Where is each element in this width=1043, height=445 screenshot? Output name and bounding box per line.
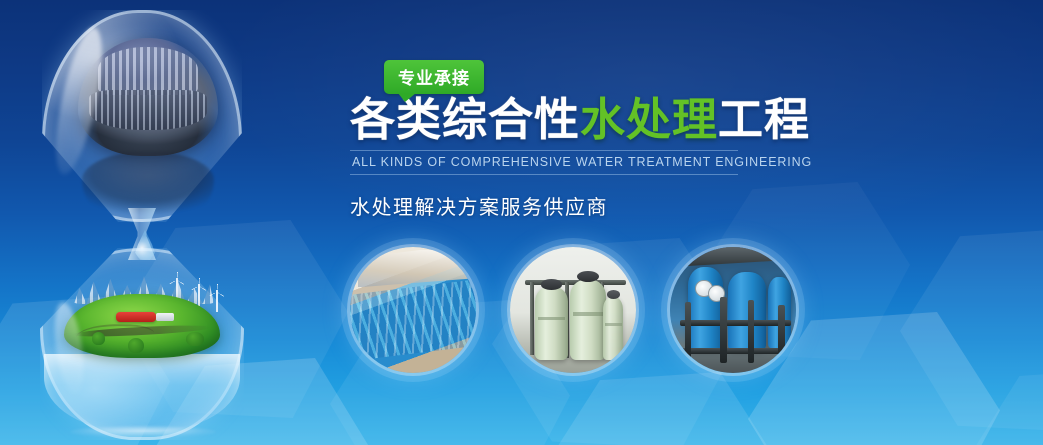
english-subtitle: ALL KINDS OF COMPREHENSIVE WATER TREATME… (352, 155, 738, 169)
service-badge: 专业承接 (384, 60, 484, 94)
pipe-vertical (685, 302, 691, 360)
photo-circle-industrial-tanks[interactable] (670, 247, 796, 373)
headline-part-1: 各类综合性 (350, 94, 580, 145)
headline-part-highlight: 水处理 (580, 94, 718, 145)
filter-tank (603, 297, 623, 360)
water-treatment-hero-banner: 专业承接 各类综合性水处理工程 ALL KINDS OF COMPREHENSI… (0, 0, 1043, 445)
badge-container: 专业承接 (384, 60, 770, 94)
swimming-pool-photo (350, 247, 476, 373)
chinese-subtitle: 水处理解决方案服务供应商 (350, 191, 770, 220)
hourglass-illustration (18, 2, 268, 445)
tree-icon (92, 332, 105, 345)
photo-circle-group (348, 243, 808, 383)
tree-icon (128, 338, 144, 353)
headline-part-2: 工程 (718, 94, 810, 145)
pipe-vertical (748, 300, 754, 363)
pipe-vertical (778, 305, 784, 360)
industrial-tanks-photo (670, 247, 796, 373)
filter-tank (570, 280, 605, 361)
pipe-vertical (530, 282, 534, 355)
factory-roof (670, 247, 796, 267)
pipe-horizontal (680, 320, 791, 326)
wind-turbine-icon (216, 290, 218, 312)
red-train-icon (116, 312, 156, 322)
page-title: 各类综合性水处理工程 (350, 96, 770, 144)
photo-circle-softener-tanks[interactable] (510, 247, 636, 373)
pipe-horizontal (680, 348, 791, 354)
hourglass-base-reflection (70, 426, 216, 438)
blue-tank (728, 272, 766, 350)
tree-icon (186, 332, 204, 346)
english-subtitle-row: ALL KINDS OF COMPREHENSIVE WATER TREATME… (350, 150, 738, 175)
headline-copy-block: 专业承接 各类综合性水处理工程 ALL KINDS OF COMPREHENSI… (350, 60, 770, 220)
frp-tanks-photo (510, 247, 636, 373)
photo-circle-swimming-pool[interactable] (350, 247, 476, 373)
pipe-vertical (720, 297, 726, 363)
filter-tank (535, 287, 568, 360)
wind-turbine-icon (198, 284, 200, 306)
